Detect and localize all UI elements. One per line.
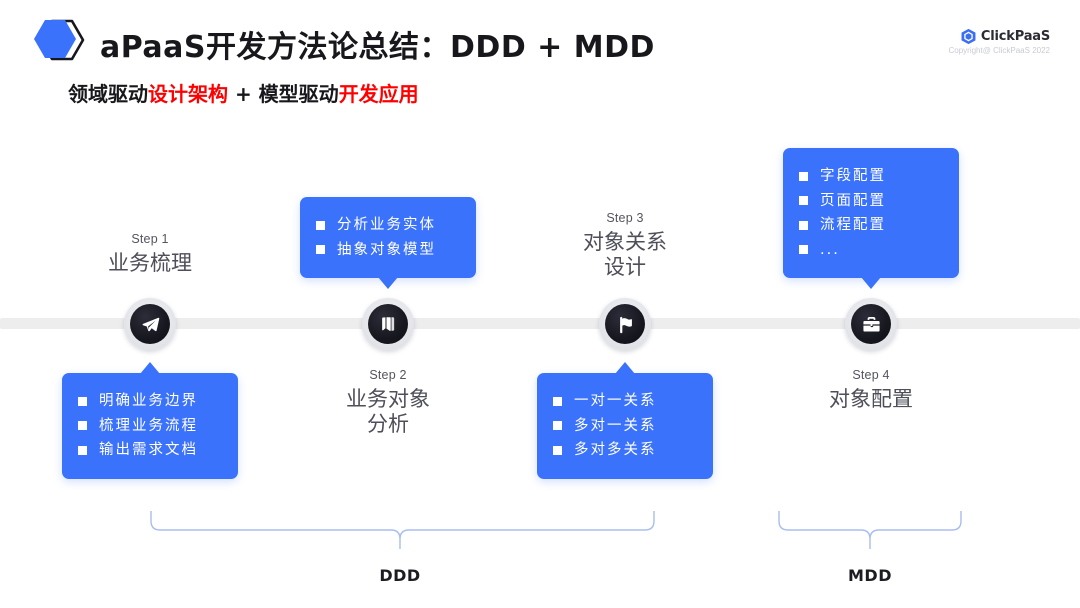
timeline-node-step-3[interactable] [599, 298, 651, 350]
card-item-text: 多对一关系 [574, 419, 657, 434]
hexagon-logo-icon [30, 16, 88, 66]
square-bullet-icon [799, 196, 808, 205]
card-item-text: 明确业务边界 [99, 394, 198, 409]
step-card-4[interactable]: 字段配置页面配置流程配置... [783, 148, 959, 278]
card-list-item: 字段配置 [799, 164, 941, 189]
card-list-item: 明确业务边界 [78, 389, 220, 414]
timeline-node-step-4[interactable] [845, 298, 897, 350]
step-name-label: 业务对象分析 [288, 387, 488, 437]
square-bullet-icon [553, 421, 562, 430]
square-bullet-icon [316, 221, 325, 230]
timeline-node-step-2[interactable] [362, 298, 414, 350]
square-bullet-icon [78, 446, 87, 455]
card-item-text: 字段配置 [820, 169, 886, 184]
card-item-text: 分析业务实体 [337, 218, 436, 233]
group-label-ddd: DDD [320, 566, 480, 585]
step-number-label: Step 1 [50, 232, 250, 246]
card-item-text: 梳理业务流程 [99, 419, 198, 434]
book-icon [368, 304, 408, 344]
step-name-label: 对象关系设计 [525, 230, 725, 280]
flag-icon [605, 304, 645, 344]
group-label-mdd: MDD [790, 566, 950, 585]
card-list-item: 流程配置 [799, 213, 941, 238]
step-number-label: Step 3 [525, 211, 725, 225]
square-bullet-icon [78, 397, 87, 406]
card-list-item: 分析业务实体 [316, 213, 458, 238]
card-item-text: ... [820, 243, 840, 258]
paper-plane-icon [130, 304, 170, 344]
square-bullet-icon [78, 421, 87, 430]
step-number-label: Step 4 [771, 368, 971, 382]
card-list-item: 页面配置 [799, 189, 941, 214]
subtitle-part-3: + 模型驱动 [228, 82, 339, 106]
step-card-3[interactable]: 一对一关系多对一关系多对多关系 [537, 373, 713, 479]
step-caption-1: Step 1业务梳理 [50, 232, 250, 276]
group-brace-mdd [778, 510, 962, 558]
brand-name: ClickPaaS [981, 29, 1050, 44]
card-list-item: 一对一关系 [553, 389, 695, 414]
group-brace-ddd [150, 510, 655, 558]
card-list-item: 输出需求文档 [78, 438, 220, 463]
card-list-item: 梳理业务流程 [78, 414, 220, 439]
card-list-item: 抽象对象模型 [316, 238, 458, 263]
step-caption-3: Step 3对象关系设计 [525, 211, 725, 280]
step-card-1[interactable]: 明确业务边界梳理业务流程输出需求文档 [62, 373, 238, 479]
step-caption-4: Step 4对象配置 [771, 368, 971, 412]
subtitle-part-2: 设计架构 [148, 82, 228, 106]
card-list-item: 多对一关系 [553, 414, 695, 439]
clickpaas-hex-icon [960, 28, 977, 45]
square-bullet-icon [553, 446, 562, 455]
step-name-label: 对象配置 [771, 387, 971, 412]
card-item-text: 多对多关系 [574, 443, 657, 458]
step-number-label: Step 2 [288, 368, 488, 382]
brand-logo: ClickPaaS Copyright@ ClickPaaS 2022 [930, 28, 1050, 62]
square-bullet-icon [553, 397, 562, 406]
square-bullet-icon [799, 221, 808, 230]
step-card-2[interactable]: 分析业务实体抽象对象模型 [300, 197, 476, 278]
subtitle-part-4: 开发应用 [339, 82, 419, 106]
card-item-text: 抽象对象模型 [337, 243, 436, 258]
slide-canvas: aPaaS开发方法论总结：DDD + MDD 领域驱动设计架构 + 模型驱动开发… [0, 0, 1080, 608]
timeline-node-step-1[interactable] [124, 298, 176, 350]
square-bullet-icon [316, 245, 325, 254]
card-item-text: 一对一关系 [574, 394, 657, 409]
card-item-text: 输出需求文档 [99, 443, 198, 458]
card-item-text: 流程配置 [820, 218, 886, 233]
step-caption-2: Step 2业务对象分析 [288, 368, 488, 437]
step-name-label: 业务梳理 [50, 251, 250, 276]
square-bullet-icon [799, 172, 808, 181]
square-bullet-icon [799, 245, 808, 254]
page-title: aPaaS开发方法论总结：DDD + MDD [100, 22, 655, 66]
card-list-item: ... [799, 238, 941, 263]
card-list-item: 多对多关系 [553, 438, 695, 463]
subtitle-part-1: 领域驱动 [68, 82, 148, 106]
copyright-text: Copyright@ ClickPaaS 2022 [930, 46, 1050, 55]
briefcase-icon [851, 304, 891, 344]
card-item-text: 页面配置 [820, 194, 886, 209]
page-subtitle: 领域驱动设计架构 + 模型驱动开发应用 [68, 78, 419, 107]
